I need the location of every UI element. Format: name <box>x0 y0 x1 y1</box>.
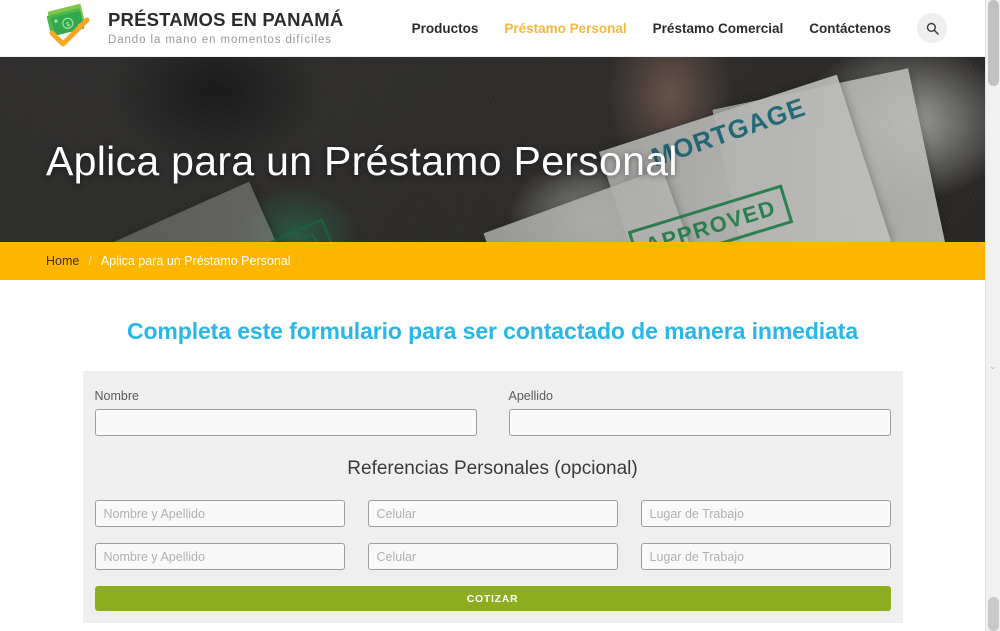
reference-1-cell-input[interactable] <box>368 500 618 527</box>
form-inner: Nombre Apellido Referencias Personales (… <box>83 389 903 623</box>
browser-viewport: $ PRÉSTAMOS EN PANAMÁ Dando la mano en m… <box>0 0 985 631</box>
page-scrollbar[interactable]: ⌄ <box>985 0 1000 631</box>
search-icon <box>926 22 939 35</box>
apellido-label: Apellido <box>509 389 891 403</box>
reference-1-cell-group <box>368 500 618 527</box>
apellido-input[interactable] <box>509 409 891 436</box>
nav-item-prestamo-comercial[interactable]: Préstamo Comercial <box>653 21 784 36</box>
brand-logo[interactable]: $ PRÉSTAMOS EN PANAMÁ Dando la mano en m… <box>42 3 343 53</box>
reference-2-work-group <box>641 543 891 570</box>
page-root: $ PRÉSTAMOS EN PANAMÁ Dando la mano en m… <box>0 0 1000 631</box>
reference-2-cell-input[interactable] <box>368 543 618 570</box>
reference-2-cell-group <box>368 543 618 570</box>
nombre-label: Nombre <box>95 389 477 403</box>
nav-item-productos[interactable]: Productos <box>412 21 479 36</box>
reference-2-name-group <box>95 543 345 570</box>
form-heading: Completa este formulario para ser contac… <box>0 318 985 345</box>
breadcrumb-current-page: Aplica para un Préstamo Personal <box>101 254 291 268</box>
reference-row-1 <box>89 500 897 527</box>
name-fields-row: Nombre Apellido <box>89 389 897 436</box>
site-header: $ PRÉSTAMOS EN PANAMÁ Dando la mano en m… <box>0 0 985 57</box>
hero-title: Aplica para un Préstamo Personal <box>46 138 678 185</box>
brand-tagline: Dando la mano en momentos difíciles <box>108 34 343 46</box>
scrollbar-thumb-lower[interactable] <box>988 597 999 631</box>
panel-footer-spacer <box>89 611 897 623</box>
reference-1-work-input[interactable] <box>641 500 891 527</box>
reference-1-name-input[interactable] <box>95 500 345 527</box>
hero-banner: MORTGAGE APPROVED APPROVED Aplica para u… <box>0 57 985 242</box>
scrollbar-thumb[interactable] <box>988 0 999 86</box>
nav-item-contactenos[interactable]: Contáctenos <box>809 21 891 36</box>
brand-title: PRÉSTAMOS EN PANAMÁ <box>108 10 343 30</box>
main-content: Completa este formulario para ser contac… <box>0 280 985 623</box>
nombre-field-group: Nombre <box>95 389 477 436</box>
reference-2-work-input[interactable] <box>641 543 891 570</box>
reference-row-2 <box>89 543 897 570</box>
nav-item-prestamo-personal[interactable]: Préstamo Personal <box>504 21 626 36</box>
main-navigation: Productos Préstamo Personal Préstamo Com… <box>412 13 947 43</box>
breadcrumb-separator: / <box>88 254 91 268</box>
application-form-panel: Nombre Apellido Referencias Personales (… <box>83 371 903 623</box>
cotizar-submit-button[interactable]: COTIZAR <box>95 586 891 611</box>
reference-1-work-group <box>641 500 891 527</box>
breadcrumb-home-link[interactable]: Home <box>46 254 79 268</box>
nombre-input[interactable] <box>95 409 477 436</box>
scrollbar-marker-icon: ⌄ <box>989 362 998 371</box>
breadcrumb: Home / Aplica para un Préstamo Personal <box>0 242 985 280</box>
brand-text: PRÉSTAMOS EN PANAMÁ Dando la mano en mom… <box>108 10 343 46</box>
search-button[interactable] <box>917 13 947 43</box>
reference-2-name-input[interactable] <box>95 543 345 570</box>
reference-1-name-group <box>95 500 345 527</box>
references-heading: Referencias Personales (opcional) <box>89 458 897 480</box>
apellido-field-group: Apellido <box>509 389 891 436</box>
money-logo-icon: $ <box>42 3 96 53</box>
